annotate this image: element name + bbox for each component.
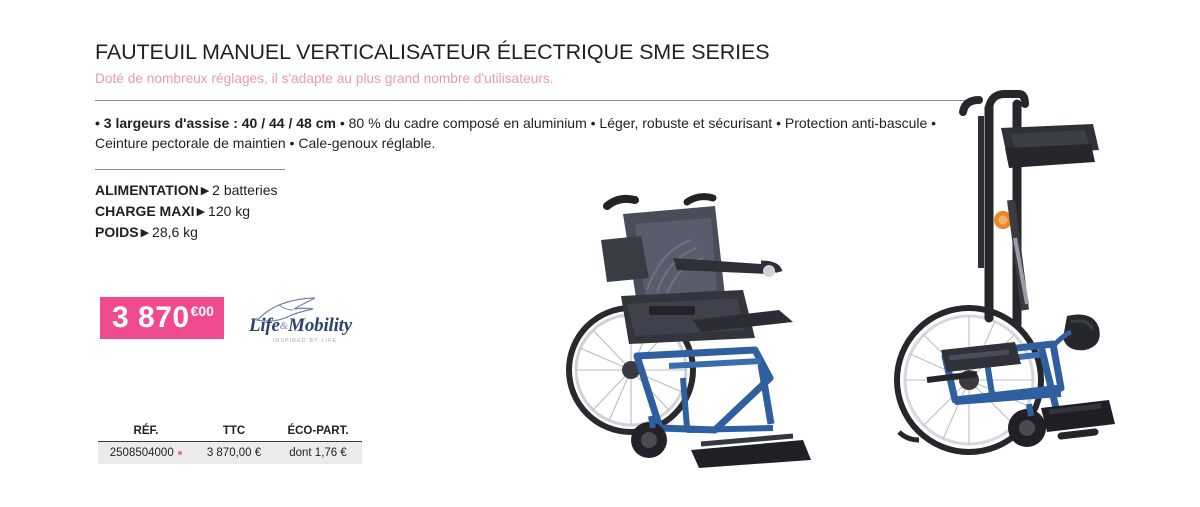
table-header: RÉF. TTC ÉCO-PART. — [98, 425, 362, 442]
reference-price-table: RÉF. TTC ÉCO-PART. 2508504000 3 870,00 €… — [98, 425, 362, 464]
brand-name-second: Mobility — [288, 315, 352, 336]
column-header-ref: RÉF. — [98, 425, 194, 442]
price-cents: €00 — [191, 304, 214, 318]
features-highlight: • 3 largeurs d'assise : 40 / 44 / 48 cm — [95, 115, 336, 131]
spec-label-alimentation: ALIMENTATION — [95, 182, 199, 198]
column-header-eco-part: ÉCO-PART. — [274, 425, 362, 442]
brand-wordmark: Life&Mobility — [249, 316, 361, 335]
brand-name-amp: & — [280, 320, 288, 332]
arrow-right-icon: ▶ — [141, 225, 149, 242]
divider-top — [95, 100, 975, 101]
spec-value-poids: 28,6 kg — [152, 224, 198, 240]
cell-ttc: 3 870,00 € — [194, 442, 274, 465]
product-image-seated-wheelchair — [565, 178, 885, 468]
spec-value-alimentation: 2 batteries — [212, 182, 277, 198]
table-row: 2508504000 3 870,00 € dont 1,76 € — [98, 442, 362, 465]
column-header-ttc: TTC — [194, 425, 274, 442]
cell-eco-part: dont 1,76 € — [274, 442, 362, 465]
divider-specs — [95, 169, 285, 170]
ref-number: 2508504000 — [110, 447, 174, 459]
price-and-brand-row: 3 870€00 Life&Mobility INSPIRED BY LIFE — [100, 294, 361, 342]
page-title: FAUTEUIL MANUEL VERTICALISATEUR ÉLECTRIQ… — [95, 40, 980, 65]
color-dot-icon — [178, 451, 183, 456]
brand-logo: Life&Mobility INSPIRED BY LIFE — [249, 296, 361, 344]
spec-label-charge-maxi: CHARGE MAXI — [95, 203, 195, 219]
price-badge: 3 870€00 — [100, 297, 224, 339]
product-subtitle: Doté de nombreux réglages, il s'adapte a… — [95, 70, 980, 88]
spec-label-poids: POIDS — [95, 224, 139, 240]
table-body: 2508504000 3 870,00 € dont 1,76 € — [98, 442, 362, 465]
table-header-row: RÉF. TTC ÉCO-PART. — [98, 425, 362, 442]
product-image-standing-wheelchair — [885, 88, 1125, 470]
price-amount: 3 870 — [112, 303, 190, 333]
brand-tagline: INSPIRED BY LIFE — [249, 338, 361, 344]
product-features: • 3 largeurs d'assise : 40 / 44 / 48 cm … — [95, 113, 957, 154]
cell-ref: 2508504000 — [98, 442, 194, 465]
spec-value-charge-maxi: 120 kg — [208, 203, 250, 219]
arrow-right-icon: ▶ — [197, 204, 205, 221]
arrow-right-icon: ▶ — [201, 183, 209, 200]
product-sheet-page: FAUTEUIL MANUEL VERTICALISATEUR ÉLECTRIQ… — [0, 0, 1200, 507]
brand-name-first: Life — [249, 315, 280, 336]
